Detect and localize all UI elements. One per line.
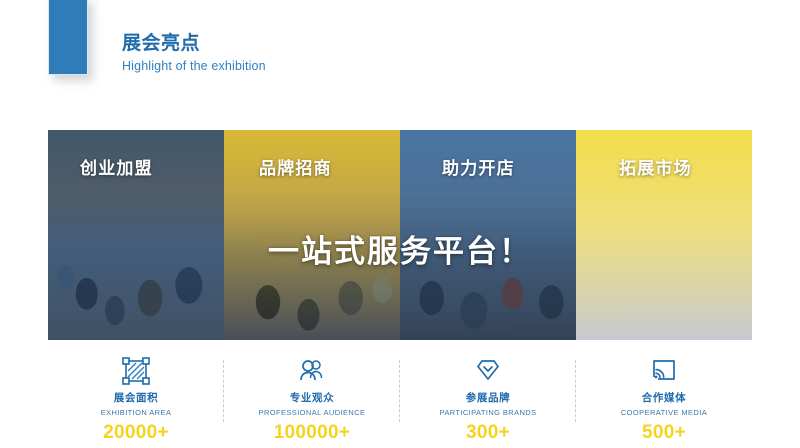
stat-value: 100000+ [274,422,351,444]
slide-root: 展会亮点 Highlight of the exhibition 创业加盟 品牌… [0,0,800,448]
banner-headline: 一站式服务平台！ [48,226,752,271]
stat-value: 20000+ [103,422,169,444]
page-title: 展会亮点 [122,32,266,56]
stat-label-cn: 专业观众 [290,390,334,405]
stat-participating-brands: 参展品牌 PARTICIPATING BRANDS 300+ [400,352,576,444]
stat-label-en: EXHIBITION AREA [101,408,172,417]
exhibition-area-icon [122,356,150,386]
stat-label-en: PARTICIPATING BRANDS [439,408,536,417]
stat-label-cn: 合作媒体 [642,390,686,405]
page-subtitle: Highlight of the exhibition [122,59,266,74]
stat-cooperative-media: 合作媒体 COOPERATIVE MEDIA 500+ [576,352,752,444]
header-text-block: 展会亮点 Highlight of the exhibition [122,32,266,74]
stat-exhibition-area: 展会面积 EXHIBITION AREA 20000+ [48,352,224,444]
participating-brands-icon [473,356,503,386]
stat-label-en: PROFESSIONAL AUDIENCE [259,408,366,417]
stat-label-en: COOPERATIVE MEDIA [621,408,707,417]
cooperative-media-icon [650,356,678,386]
header-accent-bar [48,0,88,75]
panel-label-2: 品牌招商 [224,154,400,179]
panel-label-3: 助力开店 [400,154,576,179]
stat-label-cn: 参展品牌 [466,390,510,405]
stat-professional-audience: 专业观众 PROFESSIONAL AUDIENCE 100000+ [224,352,400,444]
stat-value: 300+ [466,422,510,444]
stats-row: 展会面积 EXHIBITION AREA 20000+ 专业观众 PROFESS… [48,352,752,444]
professional-audience-icon [298,356,326,386]
highlight-banner: 创业加盟 品牌招商 助力开店 拓展市场 一站式服务平台！ [48,130,752,340]
panel-label-4: 拓展市场 [576,154,752,179]
stat-value: 500+ [642,422,686,444]
stat-label-cn: 展会面积 [114,390,158,405]
panel-label-1: 创业加盟 [48,154,224,179]
